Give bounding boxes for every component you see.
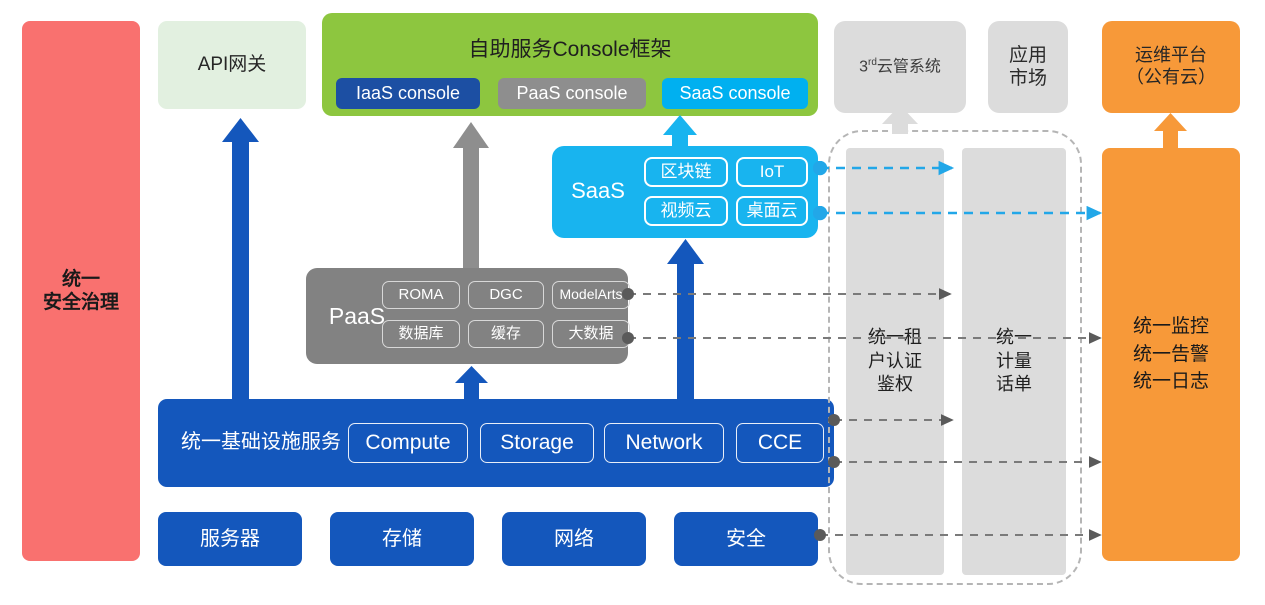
iaas-console-label: IaaS console [356,83,460,105]
infra-chip-network[interactable]: Network [604,423,724,463]
saas-layer-box[interactable]: SaaS 区块链 IoT 视频云 桌面云 [552,146,818,238]
saas-chip-blockchain-label: 区块链 [661,162,712,183]
paas-chip-cache[interactable]: 缓存 [468,320,544,348]
hardware-box-storage-label: 存储 [382,527,422,551]
unified-tenant-auth-line1: 统一租 [868,326,922,349]
arrow-paas-to-console [453,122,489,268]
arrow-infra-to-saas [667,239,704,399]
paas-chip-bigdata-label: 大数据 [568,325,613,343]
unified-tenant-auth-column[interactable]: 统一租 户认证 鉴权 [846,148,944,575]
iaas-console-chip[interactable]: IaaS console [336,78,480,109]
saas-chip-iot-label: IoT [760,162,785,183]
app-market-line1: 应用 [1009,44,1047,67]
unified-monitoring-line3: 统一日志 [1133,368,1209,396]
infra-chip-storage-label: Storage [500,430,574,456]
api-gateway-label: API网关 [198,53,267,76]
saas-chip-blockchain[interactable]: 区块链 [644,157,728,187]
hardware-box-security-label: 安全 [726,527,766,551]
arrow-infra-to-paas [455,366,488,399]
third-party-superscript: rd [868,57,877,68]
app-market-line2: 市场 [1009,67,1047,90]
unified-monitoring-line1: 统一监控 [1133,313,1209,341]
arrow-saas-to-saas-console [663,115,697,147]
unified-monitoring-panel[interactable]: 统一监控 统一告警 统一日志 [1102,148,1240,561]
paas-chip-modelarts[interactable]: ModelArts [552,281,630,309]
third-party-suffix: 云管系统 [877,58,941,75]
paas-console-chip[interactable]: PaaS console [498,78,646,109]
paas-chip-database[interactable]: 数据库 [382,320,460,348]
saas-chip-iot[interactable]: IoT [736,157,808,187]
unified-tenant-auth-line3: 鉴权 [868,373,922,396]
arrow-infra-to-api-gateway [222,118,259,399]
console-framework-title: 自助服务Console框架 [322,37,818,63]
arrow-ops-panel-to-ops-platform [1154,113,1187,148]
infra-chip-storage[interactable]: Storage [480,423,594,463]
saas-console-label: SaaS console [679,83,790,105]
hardware-box-network[interactable]: 网络 [502,512,646,566]
ops-platform-line2: （公有云） [1126,67,1216,89]
hardware-box-server[interactable]: 服务器 [158,512,302,566]
saas-console-chip[interactable]: SaaS console [662,78,808,109]
paas-chip-dgc-label: DGC [489,286,522,304]
paas-chip-dgc[interactable]: DGC [468,281,544,309]
saas-layer-label: SaaS [562,178,634,205]
unified-metering-billing-column[interactable]: 统一 计量 话单 [962,148,1066,575]
unified-monitoring-line2: 统一告警 [1133,341,1209,369]
hardware-box-storage[interactable]: 存储 [330,512,474,566]
unified-metering-line2: 计量 [996,350,1032,373]
third-party-cloud-label: 3rd云管系统 [859,57,941,77]
hardware-box-security[interactable]: 安全 [674,512,818,566]
unified-infrastructure-services-label: 统一基础设施服务 [172,430,350,454]
unified-infrastructure-services-box[interactable]: 统一基础设施服务 Compute Storage Network CCE [158,399,834,487]
paas-layer-box[interactable]: PaaS ROMA DGC ModelArts 数据库 缓存 大数据 [306,268,628,364]
infra-chip-network-label: Network [625,430,702,456]
saas-chip-video-cloud[interactable]: 视频云 [644,196,728,226]
third-party-cloud-management-box[interactable]: 3rd云管系统 [834,21,966,113]
infra-chip-compute[interactable]: Compute [348,423,468,463]
security-governance-panel[interactable]: 统一 安全治理 [22,21,140,561]
paas-chip-modelarts-label: ModelArts [559,286,622,303]
paas-chip-roma[interactable]: ROMA [382,281,460,309]
ops-platform-public-cloud-box[interactable]: 运维平台 （公有云） [1102,21,1240,113]
ops-platform-line1: 运维平台 [1126,45,1216,67]
app-market-box[interactable]: 应用 市场 [988,21,1068,113]
saas-chip-desktop-cloud-label: 桌面云 [747,201,798,222]
paas-console-label: PaaS console [516,83,627,105]
unified-metering-line1: 统一 [996,326,1032,349]
infra-chip-compute-label: Compute [365,430,450,456]
infra-chip-cce[interactable]: CCE [736,423,824,463]
security-governance-line2: 安全治理 [43,291,119,314]
hardware-box-server-label: 服务器 [200,527,260,551]
paas-chip-roma-label: ROMA [399,286,444,304]
security-governance-line1: 统一 [43,268,119,291]
saas-chip-video-cloud-label: 视频云 [661,201,712,222]
third-party-prefix: 3 [859,58,868,75]
saas-chip-desktop-cloud[interactable]: 桌面云 [736,196,808,226]
architecture-diagram: 统一 安全治理 API网关 自助服务Console框架 IaaS console… [0,0,1265,605]
hardware-box-network-label: 网络 [554,527,594,551]
console-framework-box[interactable]: 自助服务Console框架 IaaS console PaaS console … [322,13,818,116]
unified-metering-line3: 话单 [996,373,1032,396]
infra-chip-cce-label: CCE [758,430,802,456]
paas-chip-bigdata[interactable]: 大数据 [552,320,630,348]
api-gateway-box[interactable]: API网关 [158,21,306,109]
paas-chip-database-label: 数据库 [398,325,443,343]
paas-chip-cache-label: 缓存 [491,325,521,343]
unified-tenant-auth-line2: 户认证 [868,350,922,373]
